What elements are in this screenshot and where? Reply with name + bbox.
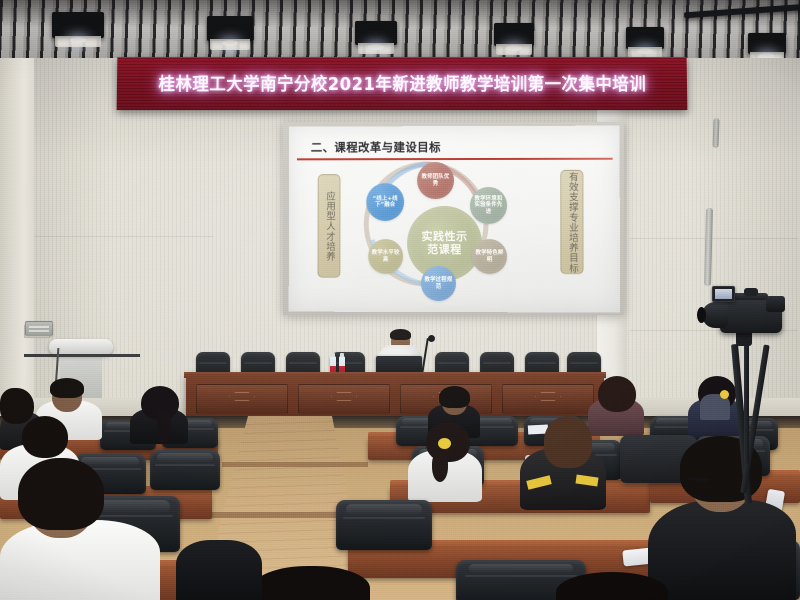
wall-conduit	[712, 118, 719, 148]
event-banner: 桂林理工大学南宁分校2021年新进教师教学培训第一次集中培训	[117, 57, 688, 110]
audience-seat	[150, 450, 220, 490]
ceiling-spotlight	[207, 16, 253, 41]
ceiling-spotlight	[748, 33, 786, 54]
ceiling-shadow	[0, 0, 800, 62]
ceiling-spotlight	[52, 12, 104, 38]
ceiling-spotlight	[494, 23, 534, 46]
audience-seat	[336, 500, 432, 550]
wall-seam	[34, 236, 214, 237]
ceiling-spotlight	[626, 27, 664, 49]
cabinet-arm	[24, 354, 140, 357]
slide-node-label: 教学特色鲜明	[475, 250, 504, 263]
slide-node-label: “线上+线下”融合	[369, 196, 401, 209]
camera-lcd-screen[interactable]	[712, 286, 735, 302]
projected-slide: 二、课程改革与建设目标 应用型人才培养 有效支撑专业培养目标 实践性示范课程 教…	[289, 126, 620, 313]
wall-control-panel	[25, 321, 53, 336]
slide-node-teacher-team: 教师团队优秀	[417, 162, 454, 199]
camera-microphone	[744, 288, 758, 296]
aisle-threshold	[222, 462, 368, 467]
wall-left-column	[0, 58, 34, 410]
stage-desk	[186, 374, 604, 422]
camera-viewfinder	[766, 296, 785, 312]
slide-center-label: 实践性示范课程	[422, 231, 468, 256]
slide-right-pill: 有效支撑专业培养目标	[560, 170, 583, 274]
tripod-leg	[744, 344, 749, 464]
banner-title: 桂林理工大学南宁分校2021年新进教师教学培训第一次集中培训	[158, 71, 646, 96]
slide-node-blended: “线上+线下”融合	[366, 183, 404, 221]
slide-left-pill-label: 应用型人才培养	[324, 191, 334, 261]
slide-node-features: 教学特色鲜明	[472, 239, 507, 274]
slide-node-label: 教学过程规范	[424, 277, 453, 290]
camera-lens	[702, 302, 728, 328]
slide-node-level: 教学水平较高	[368, 239, 403, 274]
microphone-head	[428, 335, 435, 342]
slide-node-label: 教学水平较高	[371, 250, 400, 263]
slide-node-environment: 教学环境和实验条件先进	[470, 187, 507, 224]
speaker-glasses	[392, 338, 409, 342]
slide-node-label: 教师团队优秀	[420, 174, 451, 187]
lecture-hall-photo: 桂林理工大学南宁分校2021年新进教师教学培训第一次集中培训 二、课程改革与建设…	[0, 0, 800, 600]
slide-node-process: 教学过程规范	[421, 266, 456, 301]
slide-left-pill: 应用型人才培养	[318, 174, 341, 278]
wall-seam	[630, 238, 798, 239]
ceiling-spotlight	[355, 21, 397, 45]
slide-right-pill-label: 有效支撑专业培养目标	[567, 171, 577, 272]
slide-node-label: 教学环境和实验条件先进	[473, 196, 504, 215]
